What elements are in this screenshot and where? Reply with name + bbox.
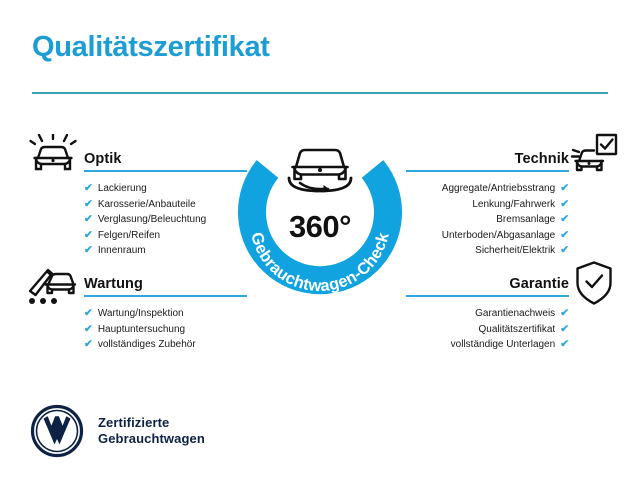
volkswagen-logo [30, 404, 84, 458]
list-item-label: Qualitätszertifikat [478, 324, 555, 335]
list-item-label: Unterboden/Abgasanlage [442, 230, 555, 241]
section-divider-optik [84, 170, 247, 172]
list-item-label: Lenkung/Fahrwerk [472, 199, 555, 210]
section-divider-technik [406, 170, 569, 172]
check-icon: ✔ [84, 229, 93, 241]
section-divider-garantie [406, 295, 569, 297]
list-item: ✔Felgen/Reifen [84, 228, 247, 244]
badge-360-gebrauchtwagen-check: Gebrauchtwagen-Check 360° [226, 121, 414, 309]
list-item-label: vollständige Unterlagen [451, 339, 556, 350]
section-wartung: Wartung ✔Wartung/Inspektion ✔Hauptunters… [84, 268, 247, 353]
section-divider-wartung [84, 295, 247, 297]
list-item-label: Karosserie/Anbauteile [98, 199, 196, 210]
list-item-label: Sicherheit/Elektrik [475, 245, 555, 256]
check-icon: ✔ [560, 198, 569, 210]
section-heading-garantie: Garantie [509, 276, 569, 292]
car-checkbox-icon [570, 133, 618, 184]
check-icon: ✔ [84, 198, 93, 210]
section-heading-optik: Optik [84, 151, 122, 167]
list-item: Unterboden/Abgasanlage✔ [406, 228, 569, 244]
shield-check-icon [574, 260, 614, 311]
section-optik: Optik ✔Lackierung ✔Karosserie/Anbauteile… [84, 143, 247, 259]
check-icon: ✔ [84, 244, 93, 256]
section-garantie: Garantie Garantienachweis✔ Qualitätszert… [406, 268, 569, 353]
checklist-technik: Aggregate/Antriebsstrang✔ Lenkung/Fahrwe… [406, 181, 569, 259]
section-heading-wartung: Wartung [84, 276, 143, 292]
check-icon: ✔ [560, 323, 569, 335]
checklist-wartung: ✔Wartung/Inspektion ✔Hauptuntersuchung ✔… [84, 306, 247, 353]
list-item-label: Bremsanlage [496, 214, 555, 225]
check-icon: ✔ [560, 338, 569, 350]
list-item-label: Verglasung/Beleuchtung [98, 214, 206, 225]
title-divider [32, 92, 608, 94]
checklist-garantie: Garantienachweis✔ Qualitätszertifikat✔ v… [406, 306, 569, 353]
list-item-label: Lackierung [98, 183, 147, 194]
list-item-label: Garantienachweis [475, 308, 555, 319]
footer-line-1: Zertifizierte [98, 415, 205, 431]
list-item: ✔Wartung/Inspektion [84, 306, 247, 322]
list-item: ✔Karosserie/Anbauteile [84, 197, 247, 213]
car-front-lights-icon [28, 134, 78, 183]
check-icon: ✔ [560, 182, 569, 194]
list-item: ✔Lackierung [84, 181, 247, 197]
list-item: Sicherheit/Elektrik✔ [406, 243, 569, 259]
list-item: ✔vollständiges Zubehör [84, 337, 247, 353]
check-icon: ✔ [84, 213, 93, 225]
list-item: vollständige Unterlagen✔ [406, 337, 569, 353]
check-icon: ✔ [560, 307, 569, 319]
list-item: ✔Verglasung/Beleuchtung [84, 212, 247, 228]
check-icon: ✔ [84, 338, 93, 350]
check-icon: ✔ [560, 244, 569, 256]
check-icon: ✔ [84, 307, 93, 319]
list-item: ✔Hauptuntersuchung [84, 322, 247, 338]
list-item: ✔Innenraum [84, 243, 247, 259]
list-item: Aggregate/Antriebsstrang✔ [406, 181, 569, 197]
list-item-label: Felgen/Reifen [98, 230, 160, 241]
check-icon: ✔ [560, 229, 569, 241]
list-item-label: Hauptuntersuchung [98, 324, 185, 335]
list-item-label: Aggregate/Antriebsstrang [442, 183, 555, 194]
list-item-label: Wartung/Inspektion [98, 308, 184, 319]
list-item: Garantienachweis✔ [406, 306, 569, 322]
check-icon: ✔ [560, 213, 569, 225]
page-title: Qualitätszertifikat [32, 33, 270, 62]
list-item: Lenkung/Fahrwerk✔ [406, 197, 569, 213]
footer-brand: Zertifizierte Gebrauchtwagen [30, 404, 205, 458]
check-icon: ✔ [84, 182, 93, 194]
list-item: Qualitätszertifikat✔ [406, 322, 569, 338]
section-technik: Technik Aggregate/Antriebsstrang✔ Lenkun… [406, 143, 569, 259]
checklist-optik: ✔Lackierung ✔Karosserie/Anbauteile ✔Verg… [84, 181, 247, 259]
list-item-label: vollständiges Zubehör [98, 339, 196, 350]
quality-certificate-page: Qualitätszertifikat [0, 0, 640, 480]
list-item: Bremsanlage✔ [406, 212, 569, 228]
section-heading-technik: Technik [515, 151, 569, 167]
list-item-label: Innenraum [98, 245, 146, 256]
wrench-car-icon [26, 262, 78, 312]
footer-line-2: Gebrauchtwagen [98, 431, 205, 447]
check-icon: ✔ [84, 323, 93, 335]
